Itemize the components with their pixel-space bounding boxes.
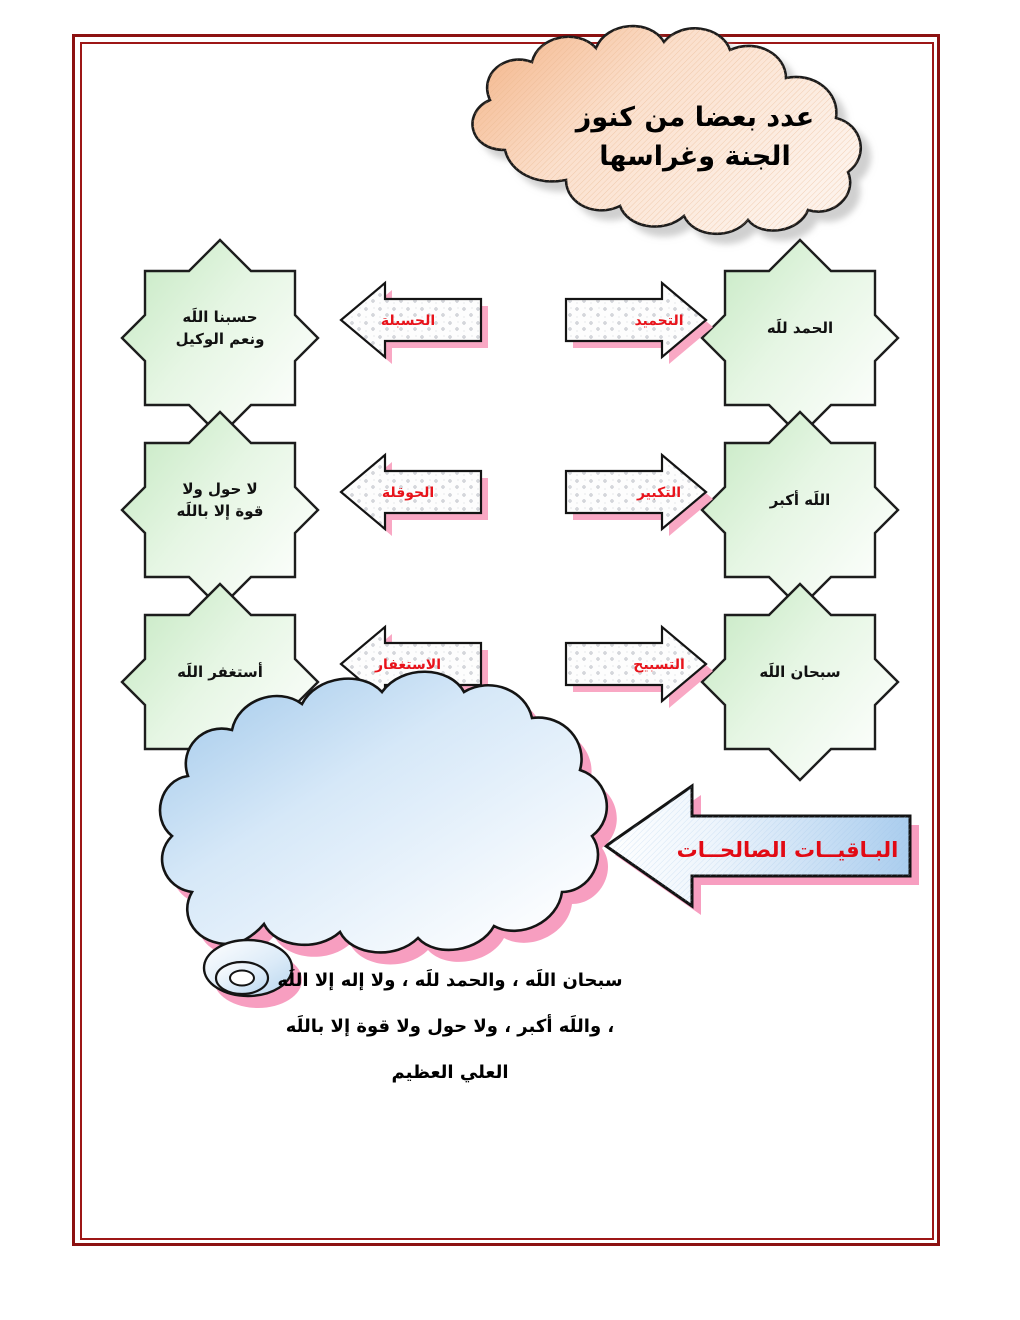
arrow-right-3-label: التسبيح [566, 622, 726, 707]
star-left-2-line-2: قوة إلا باللَه [177, 500, 264, 523]
star-left-1[interactable]: حسبنا اللَه ونعم الوكيل [120, 238, 320, 418]
arrow-right-2[interactable]: التكبير [566, 450, 726, 535]
star-left-2[interactable]: لا حول ولا قوة إلا باللَه [120, 410, 320, 590]
arrow-right-1-label: التحميد [566, 278, 726, 363]
bottom-cloud-text: سبحان اللَه ، والحمد للَه ، ولا إله إلا … [210, 958, 690, 1096]
star-right-2-label: اللَه أكبر [730, 410, 870, 590]
star-right-2[interactable]: اللَه أكبر [700, 410, 900, 590]
star-left-2-line-1: لا حول ولا [177, 478, 264, 501]
bottom-cloud-line-2: ، واللَه أكبر ، ولا حول ولا قوة إلا بالل… [210, 1004, 690, 1050]
star-right-1[interactable]: الحمد للَه [700, 238, 900, 418]
star-right-1-label: الحمد للَه [730, 238, 870, 418]
star-left-1-line-2: ونعم الوكيل [176, 328, 265, 351]
star-left-3[interactable]: أستغفر اللَه [120, 582, 320, 762]
star-left-3-label: أستغفر اللَه [150, 582, 290, 762]
arrow-left-1[interactable]: الحسبلة [341, 278, 501, 363]
big-arrow[interactable]: البـاقيــات الصالحــات [600, 782, 930, 917]
star-left-2-label: لا حول ولا قوة إلا باللَه [150, 410, 290, 590]
arrow-left-3-label: الاستغفار [341, 622, 501, 707]
arrow-right-1[interactable]: التحميد [566, 278, 726, 363]
bottom-cloud-line-1: سبحان اللَه ، والحمد للَه ، ولا إله إلا … [210, 958, 690, 1004]
star-left-1-line-1: حسبنا اللَه [176, 306, 265, 329]
arrow-left-1-label: الحسبلة [341, 278, 501, 363]
arrow-left-2-label: الحوقلة [341, 450, 501, 535]
star-right-3-label: سبحان اللَه [730, 582, 870, 762]
bottom-cloud: سبحان اللَه ، والحمد للَه ، ولا إله إلا … [155, 910, 735, 1200]
title-cloud: عدد بعضا من كنوز الجنة وغراسها [470, 58, 920, 233]
title-cloud-text: عدد بعضا من كنوز الجنة وغراسها [470, 98, 920, 176]
arrow-left-3[interactable]: الاستغفار [341, 622, 501, 707]
bottom-cloud-line-3: العلي العظيم [210, 1050, 690, 1096]
star-left-1-label: حسبنا اللَه ونعم الوكيل [150, 238, 290, 418]
big-arrow-label: البـاقيــات الصالحــات [660, 782, 915, 917]
arrow-right-3[interactable]: التسبيح [566, 622, 726, 707]
arrow-left-2[interactable]: الحوقلة [341, 450, 501, 535]
title-line-2: الجنة وغراسها [470, 137, 920, 176]
title-line-1: عدد بعضا من كنوز [470, 98, 920, 137]
arrow-right-2-label: التكبير [566, 450, 726, 535]
star-left-3-line-1: أستغفر اللَه [177, 661, 263, 684]
star-right-3[interactable]: سبحان اللَه [700, 582, 900, 762]
